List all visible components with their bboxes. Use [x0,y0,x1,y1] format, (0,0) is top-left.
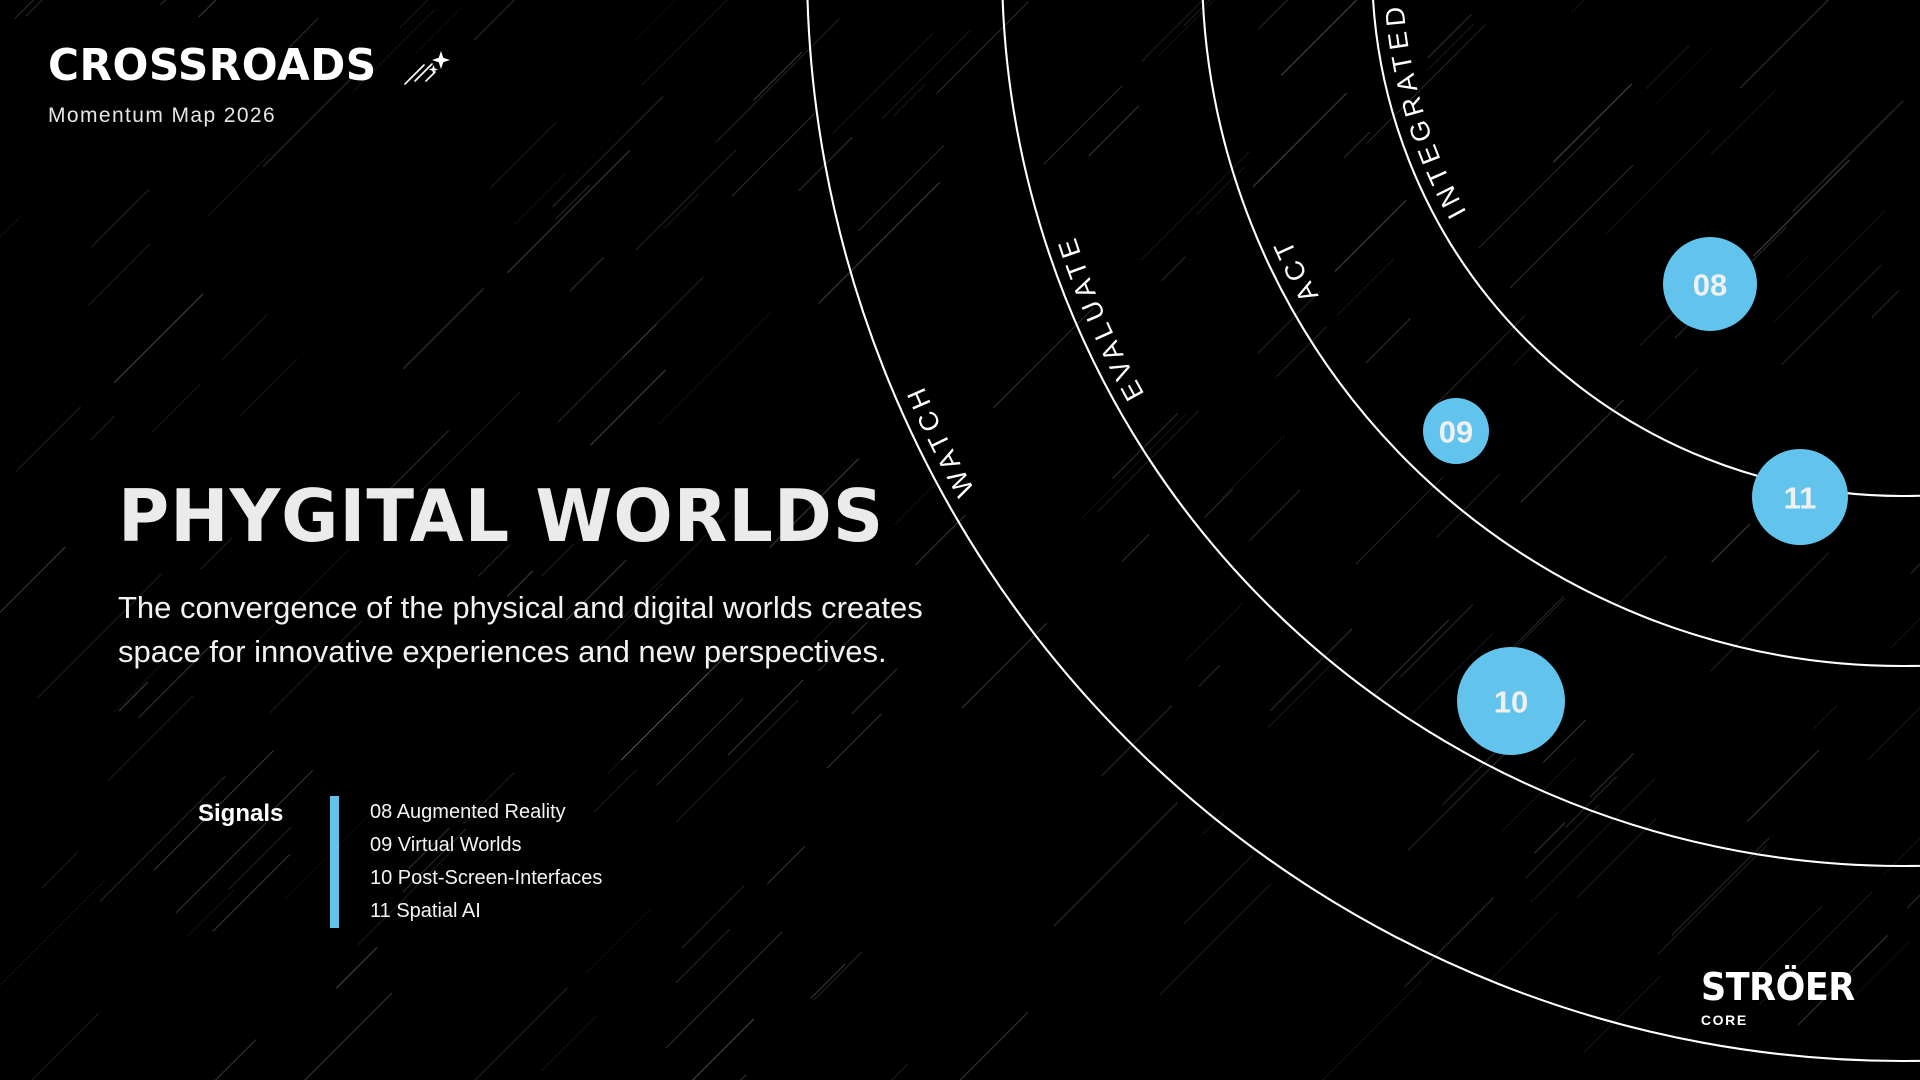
streak-line [1259,0,1330,29]
streak-line [108,696,194,782]
streak-line [754,52,802,100]
streak-line [1531,778,1656,903]
streak-line [1740,0,1837,88]
streak-line [1786,258,1807,279]
signal-dot-circle[interactable] [1457,647,1565,755]
streak-line [92,190,150,248]
streak-line [1645,369,1698,422]
streak-line [1753,160,1849,256]
signal-dot-circle[interactable] [1423,398,1489,464]
streak-line [728,680,804,756]
streak-line [1082,413,1187,518]
streak-line [1185,603,1243,661]
streak-line [558,324,657,423]
streak-line [1300,980,1422,1080]
streak-line [832,33,933,134]
main-copy-block: PHYGITAL WORLDS The convergence of the p… [118,480,1048,674]
streak-line [1197,167,1245,215]
streak-line [1184,855,1252,923]
streak-line [91,415,116,440]
streak-line [732,114,814,196]
streak-line [1159,0,1223,56]
streak-line [1510,165,1633,288]
streak-line [879,1064,907,1080]
streak-line [719,1075,747,1080]
streak-line [1891,558,1920,647]
streak-line [1590,754,1633,797]
streak-line [858,145,944,231]
streak-line [1872,290,1899,317]
streak-line [993,308,1094,409]
streak-line [1491,912,1558,979]
signal-dot-09[interactable]: 09 [1423,398,1489,464]
streak-line [1344,132,1369,157]
streak-line [556,185,590,219]
streak-line [1400,605,1473,677]
streak-line [1112,414,1177,479]
signal-dot-label: 09 [1439,415,1473,450]
streak-line [514,173,566,225]
streak-line [1813,705,1838,730]
streak-line [16,407,81,472]
signals-accent-bar [330,796,339,928]
streak-line [1249,491,1299,541]
streak-line [664,194,699,229]
streak-line [157,1040,256,1080]
streak-line [767,847,804,884]
streak-line [1141,0,1228,62]
streak-line [570,257,604,291]
streak-line [676,1019,755,1080]
streak-line [1222,436,1284,498]
streak-line [657,699,744,786]
streak-line [400,0,436,28]
streak-line [1646,45,1689,88]
streak-line [622,277,703,358]
streak-line [1102,706,1172,776]
streak-line [608,673,708,773]
streak-line [1478,598,1565,685]
streak-line [1823,110,1894,181]
radar-point-group: 08091110 [1423,237,1848,755]
streak-line [936,2,1028,94]
streak-line [1428,15,1471,58]
streak-line [676,700,799,823]
streak-line [241,359,297,415]
streak-line [1710,553,1828,672]
streak-line [87,244,149,306]
streak-line [287,993,392,1080]
ring-label-act: ACT [1266,232,1324,308]
streak-line [1711,89,1777,155]
streak-line [1675,227,1786,338]
streak-line [0,880,105,1001]
streak-line [1534,823,1565,854]
streak-line [42,853,78,889]
streak-line [882,30,971,119]
streak-line [542,1017,596,1071]
streak-line [1502,757,1576,831]
streak-line [1271,629,1353,711]
signals-block: Signals 08 Augmented Reality09 Virtual W… [198,796,602,928]
streak-line [199,0,220,17]
streak-line [1405,898,1494,987]
brand-block: CROSSROADS Momentum Map 2026 [48,44,450,128]
streak-line [1614,556,1667,609]
signal-dot-circle[interactable] [1663,237,1757,331]
streak-line [1162,257,1186,281]
streak-line [819,182,940,303]
signal-dot-label: 10 [1494,685,1528,720]
streak-line [1268,658,1337,727]
streak-line [1,1013,99,1080]
signal-dot-11[interactable]: 11 [1752,449,1848,545]
streak-line [1356,477,1443,564]
signal-item: 10 Post-Screen-Interfaces [370,862,602,895]
signal-dot-label: 11 [1784,481,1817,516]
streak-line [1521,400,1624,503]
streak-line [1183,0,1273,27]
streak-line [894,84,926,116]
streak-line [403,289,483,369]
radar-ring-evaluate [1002,0,1920,866]
streak-line [636,150,736,250]
streak-line [1526,805,1600,879]
streak-line [15,0,69,19]
streak-line [208,154,270,216]
streak-line [1479,127,1600,248]
streak-line [553,96,664,207]
ring-label-integrated: INTEGRATED [1379,1,1472,224]
page-description: The convergence of the physical and digi… [118,586,938,674]
streak-line [659,312,771,424]
streak-line [1911,501,1920,573]
streak-line [1883,816,1920,875]
streak-line [634,0,695,41]
streak-line [909,1012,1028,1080]
streak-line [1044,86,1122,164]
streak-line [1337,259,1394,316]
streak-line [1640,272,1714,346]
streak-line [676,929,730,983]
streak-line [852,669,897,714]
streak-line [507,151,629,273]
streak-line [1335,200,1406,271]
shooting-star-sparkle-icon [402,48,450,93]
brand-title: CROSSROADS [48,44,377,88]
streak-line [1160,884,1271,995]
streak-line [1658,846,1767,955]
signals-label: Signals [198,796,330,826]
signal-dot-08[interactable]: 08 [1663,237,1757,331]
streak-line [1654,45,1714,105]
streak-line [336,947,377,988]
streak-line [1577,819,1656,898]
corporate-name: STRÖER [1701,968,1855,1006]
streak-line [1511,596,1564,649]
streak-line [641,0,737,86]
brand-title-row: CROSSROADS [48,44,450,93]
streak-line [1427,23,1474,70]
streak-line [1442,709,1538,805]
streak-line [1089,106,1139,156]
streak-line [490,122,556,188]
streak-line [1098,411,1199,512]
streak-line [1553,84,1631,162]
streak-line [1543,720,1586,763]
streak-line [715,19,839,143]
streak-line [799,137,853,191]
streak-line [1572,0,1664,12]
streak-line [682,886,744,948]
streak-line [1747,750,1819,822]
streak-line [0,547,65,651]
streak-line [1258,291,1320,353]
streak-line [1755,906,1822,973]
signal-item: 09 Virtual Worlds [370,829,602,862]
streak-line [1202,813,1225,835]
streak-line [1373,620,1449,696]
streak-line [119,682,148,711]
radar-ring-integrated [1372,0,1920,496]
streak-line [1281,0,1362,75]
streak-line [474,0,576,40]
corporate-division: CORE [1701,1012,1868,1028]
streak-line [1432,315,1525,408]
streak-line [160,0,225,5]
streak-line [222,315,267,360]
streak-line [1410,633,1494,717]
streak-line [1141,152,1250,261]
streak-line [1122,534,1149,562]
streak-line [1054,803,1178,927]
streak-line [827,714,881,768]
signals-list: 08 Augmented Reality09 Virtual Worlds10 … [370,796,602,928]
signal-dot-circle[interactable] [1752,449,1848,545]
streak-line [811,964,845,998]
streak-line [1199,665,1220,686]
ring-label-evaluate: EVALUATE [1051,230,1150,405]
streak-line [1584,975,1661,1052]
signal-dot-10[interactable]: 10 [1457,647,1565,755]
streak-line [26,0,140,16]
streak-line [666,932,783,1049]
streak-line [1366,318,1411,363]
streak-line [1867,672,1920,760]
streak-line [1793,101,1903,211]
streak-line [1605,129,1711,235]
radar-ring-act [1202,0,1920,666]
signal-item: 11 Spatial AI [370,895,602,928]
streak-line [1205,489,1233,517]
streak-line [1367,24,1486,143]
streak-line [1712,524,1750,562]
signal-dot-label: 08 [1693,268,1727,303]
streak-line [1773,211,1885,323]
signal-item: 08 Augmented Reality [370,796,602,829]
streak-line [814,952,862,1000]
streak-line [1437,475,1500,537]
streak-line [0,217,20,319]
streak-line [1408,725,1534,850]
radar-ring-label-group: INTEGRATEDACTEVALUATEWATCH [899,1,1472,502]
streak-line [448,988,568,1080]
streak-line [591,370,666,445]
stroeer-core-logo: STRÖER CORE [1701,968,1868,1028]
streak-line [114,294,203,383]
brand-subtitle: Momentum Map 2026 [48,104,450,128]
streak-line [1672,838,1770,936]
streak-line [153,383,202,432]
streak-line [1565,776,1616,827]
streak-line [1782,265,1882,365]
streak-line [1513,342,1536,365]
page-title: PHYGITAL WORLDS [118,480,1020,552]
streak-line [1907,810,1920,908]
streak-line [1253,93,1346,186]
streak-line [1276,327,1326,377]
